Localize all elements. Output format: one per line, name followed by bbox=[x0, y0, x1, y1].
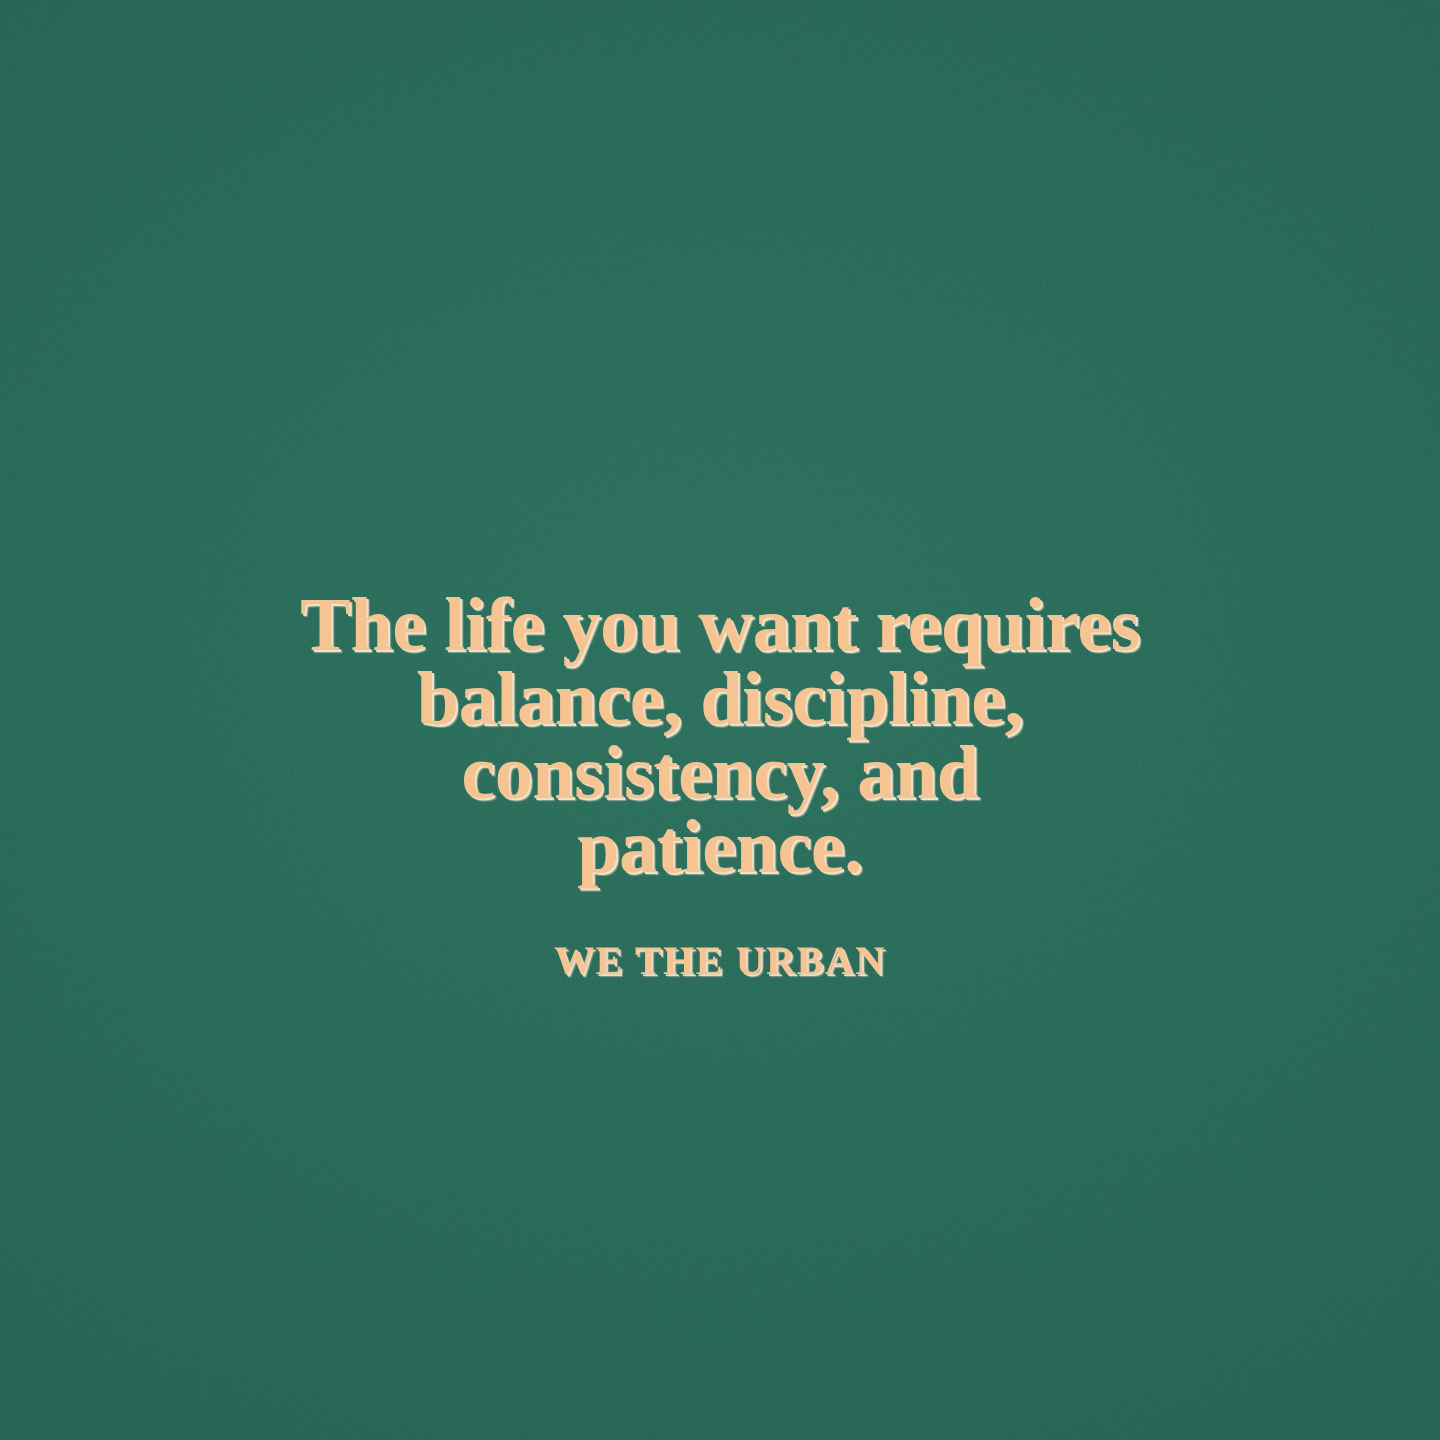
quote-line-4: patience. bbox=[220, 810, 1220, 884]
quote-line-2: balance, discipline, bbox=[220, 662, 1220, 736]
quote-poster: The life you want requires balance, disc… bbox=[0, 0, 1440, 1440]
poster-content: The life you want requires balance, disc… bbox=[0, 0, 1440, 1440]
attribution-label: WE THE URBAN bbox=[554, 940, 886, 982]
quote-line-3: consistency, and bbox=[220, 736, 1220, 810]
quote-text-block: The life you want requires balance, disc… bbox=[220, 588, 1220, 884]
quote-line-1: The life you want requires bbox=[220, 588, 1220, 662]
